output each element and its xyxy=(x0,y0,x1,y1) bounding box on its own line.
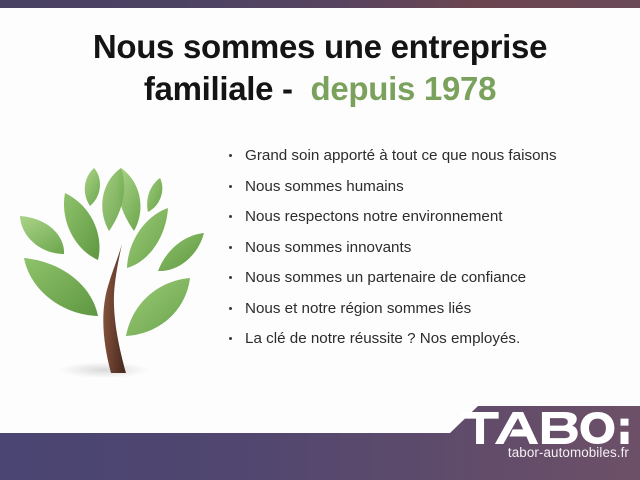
bullet-dot-icon xyxy=(229,215,232,218)
list-item: Nous sommes innovants xyxy=(228,239,628,257)
page-title-line-2-primary: familiale - xyxy=(144,70,293,107)
list-item: Nous respectons notre environnement xyxy=(228,208,628,226)
list-item-label: Grand soin apporté à tout ce que nous fa… xyxy=(245,147,557,164)
leaf-upper-right-small xyxy=(147,178,162,212)
value-proposition-list: Grand soin apporté à tout ce que nous fa… xyxy=(228,147,628,361)
list-item: Nous sommes humains xyxy=(228,178,628,196)
top-accent-bar xyxy=(0,0,640,8)
tabor-wordmark xyxy=(461,412,629,444)
bullet-dot-icon xyxy=(229,276,232,279)
list-item: La clé de notre réussite ? Nos employés. xyxy=(228,330,628,348)
bullet-dot-icon xyxy=(229,154,232,157)
tree-illustration xyxy=(8,138,208,390)
bullet-dot-icon xyxy=(229,185,232,188)
tree-trunk xyxy=(103,244,126,373)
slide-canvas: Nous sommes une entreprise familiale - d… xyxy=(0,0,640,480)
leaf-far-left xyxy=(20,216,64,254)
tree-illustration-svg xyxy=(8,138,208,390)
list-item: Nous sommes un partenaire de confiance xyxy=(228,269,628,287)
list-item-label: Nous sommes humains xyxy=(245,178,404,195)
leaf-top-center-b xyxy=(102,168,124,231)
list-item-label: Nous sommes un partenaire de confiance xyxy=(245,269,526,286)
bullet-dot-icon xyxy=(229,307,232,310)
leaf-lower-left xyxy=(24,258,98,316)
list-item-label: Nous et notre région sommes liés xyxy=(245,300,471,317)
list-item: Grand soin apporté à tout ce que nous fa… xyxy=(228,147,628,165)
leaf-upper-left-small xyxy=(85,168,100,206)
page-title: Nous sommes une entreprise familiale - d… xyxy=(0,26,640,110)
list-item-label: Nous sommes innovants xyxy=(245,239,411,256)
page-title-line-1: Nous sommes une entreprise xyxy=(0,26,640,68)
list-item: Nous et notre région sommes liés xyxy=(228,300,628,318)
bullet-dot-icon xyxy=(229,337,232,340)
list-item-label: La clé de notre réussite ? Nos employés. xyxy=(245,330,520,347)
list-item-label: Nous respectons notre environnement xyxy=(245,208,503,225)
leaf-far-right xyxy=(158,233,204,271)
bullet-dot-icon xyxy=(229,246,232,249)
page-title-line-2: familiale - depuis 1978 xyxy=(0,68,640,110)
leaf-lower-right xyxy=(126,278,190,336)
page-title-accent: depuis 1978 xyxy=(311,70,497,107)
brand-logo[interactable]: tabor-automobiles.fr xyxy=(461,412,629,460)
leaf-mid-left xyxy=(64,193,100,260)
brand-tagline: tabor-automobiles.fr xyxy=(461,445,629,460)
tree-shadow xyxy=(59,362,149,378)
footer-bar: tabor-automobiles.fr xyxy=(0,404,640,480)
